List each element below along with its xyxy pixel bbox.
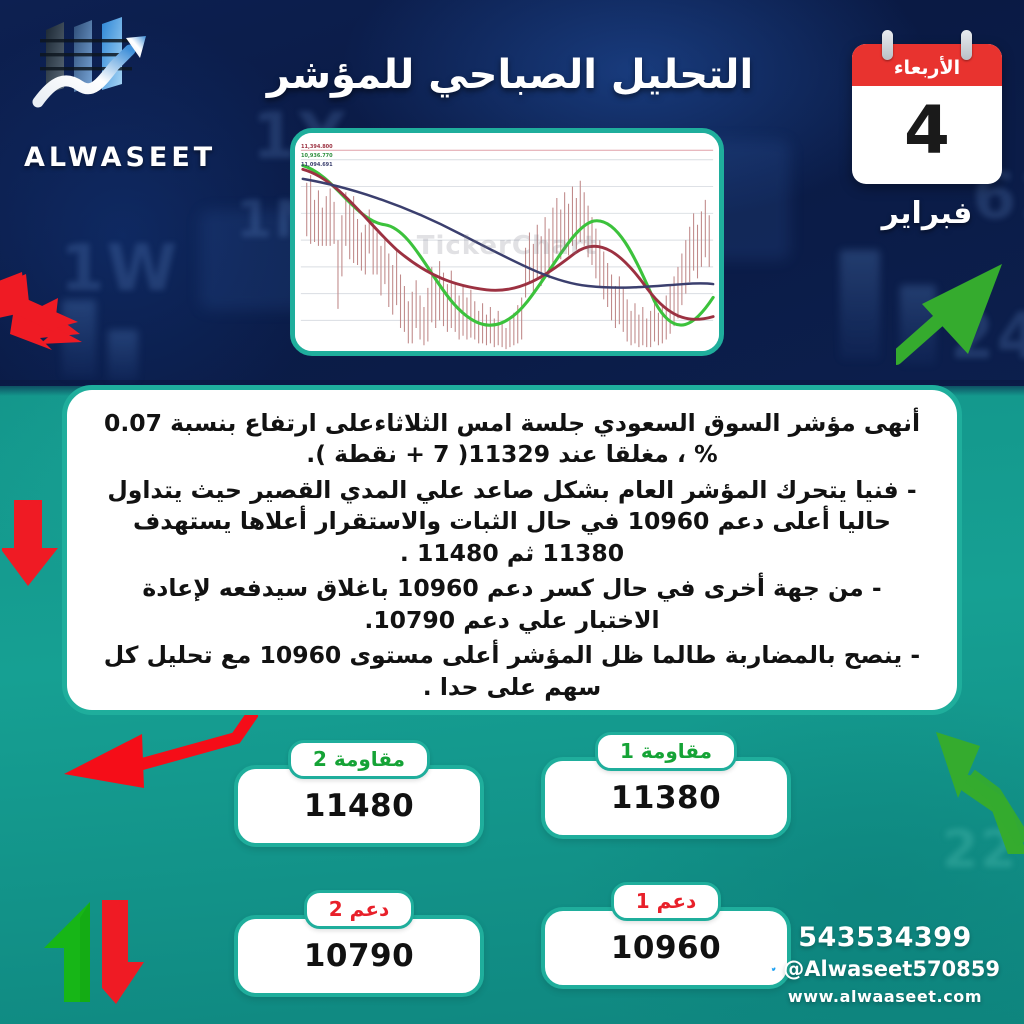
red-arrow-down-icon bbox=[2, 500, 62, 590]
poster-root: 1Y 1W 1M 24 61 22 bbox=[0, 0, 1024, 1024]
green-arrow-up-right-icon bbox=[896, 256, 1016, 366]
support-2-label: دعم 2 bbox=[304, 890, 415, 929]
chart-price-tag: 10,936.770 bbox=[301, 152, 333, 161]
price-chart-card: 11,394.800 10,936.770 11,094.691 TickerC… bbox=[290, 128, 724, 356]
green-up-red-down-pair-icon bbox=[36, 896, 166, 1008]
analysis-line: أنهى مؤشر السوق السعودي جلسة امس الثلاثا… bbox=[97, 408, 927, 471]
brand-logo: ALWASEET bbox=[18, 14, 188, 164]
background-bar-watermark bbox=[840, 250, 880, 360]
calendar-widget: الأربعاء 4 فبراير bbox=[852, 30, 1002, 231]
analysis-line: - من جهة أخرى في حال كسر دعم 10960 باغلا… bbox=[97, 573, 927, 636]
contact-website[interactable]: www.alwaaseet.com bbox=[770, 987, 1000, 1006]
resistance-2-value: 11480 bbox=[304, 788, 414, 824]
analysis-text-card: أنهى مؤشر السوق السعودي جلسة امس الثلاثا… bbox=[62, 385, 962, 715]
alwaseet-bars-arrow-logo bbox=[30, 14, 170, 114]
red-arrow-down-right-icon bbox=[0, 272, 106, 352]
calendar-day-number: 4 bbox=[852, 86, 1002, 184]
resistance-2-box[interactable]: مقاومة 2 11480 bbox=[234, 740, 484, 847]
twitter-handle: @Alwaseet570859 bbox=[783, 957, 1000, 981]
chart-price-tag: 11,394.800 bbox=[301, 143, 333, 152]
support-2-value: 10790 bbox=[304, 938, 414, 974]
calendar-month: فبراير bbox=[852, 196, 1002, 231]
support-1-value: 10960 bbox=[611, 930, 721, 966]
analysis-line: - ينصح بالمضاربة طالما ظل المؤشر أعلى مس… bbox=[97, 640, 927, 703]
chart-price-tags: 11,394.800 10,936.770 11,094.691 bbox=[301, 143, 333, 170]
twitter-bird-icon bbox=[770, 958, 777, 980]
page-title: التحليل الصباحي للمؤشر bbox=[230, 52, 790, 98]
contact-phone[interactable]: 543534399 bbox=[770, 922, 1000, 953]
candlestick-chart bbox=[295, 133, 719, 351]
support-2-box[interactable]: دعم 2 10790 bbox=[234, 890, 484, 997]
analysis-line: - فنيا يتحرك المؤشر العام بشكل صاعد علي … bbox=[97, 475, 927, 569]
contact-block: 543534399 @Alwaseet570859 www.alwaaseet.… bbox=[770, 922, 1000, 1006]
calendar-weekday: الأربعاء bbox=[852, 44, 1002, 86]
resistance-1-value: 11380 bbox=[611, 780, 721, 816]
chart-price-tag: 11,094.691 bbox=[301, 161, 333, 170]
resistance-1-label: مقاومة 1 bbox=[595, 732, 737, 771]
twitter-row[interactable]: @Alwaseet570859 bbox=[770, 957, 1000, 981]
calendar-body: الأربعاء 4 bbox=[852, 44, 1002, 184]
support-1-label: دعم 1 bbox=[611, 882, 722, 921]
resistance-2-label: مقاومة 2 bbox=[288, 740, 430, 779]
resistance-1-box[interactable]: مقاومة 1 11380 bbox=[541, 732, 791, 839]
calendar-ring-left bbox=[882, 30, 893, 60]
calendar-rings bbox=[852, 30, 1002, 44]
calendar-ring-right bbox=[961, 30, 972, 60]
brand-name: ALWASEET bbox=[24, 142, 194, 173]
background-bar-watermark bbox=[108, 330, 138, 382]
green-arrow-up-left-icon bbox=[928, 724, 1024, 854]
support-1-box[interactable]: دعم 1 10960 bbox=[541, 882, 791, 989]
red-arrow-left-icon bbox=[58, 704, 258, 814]
